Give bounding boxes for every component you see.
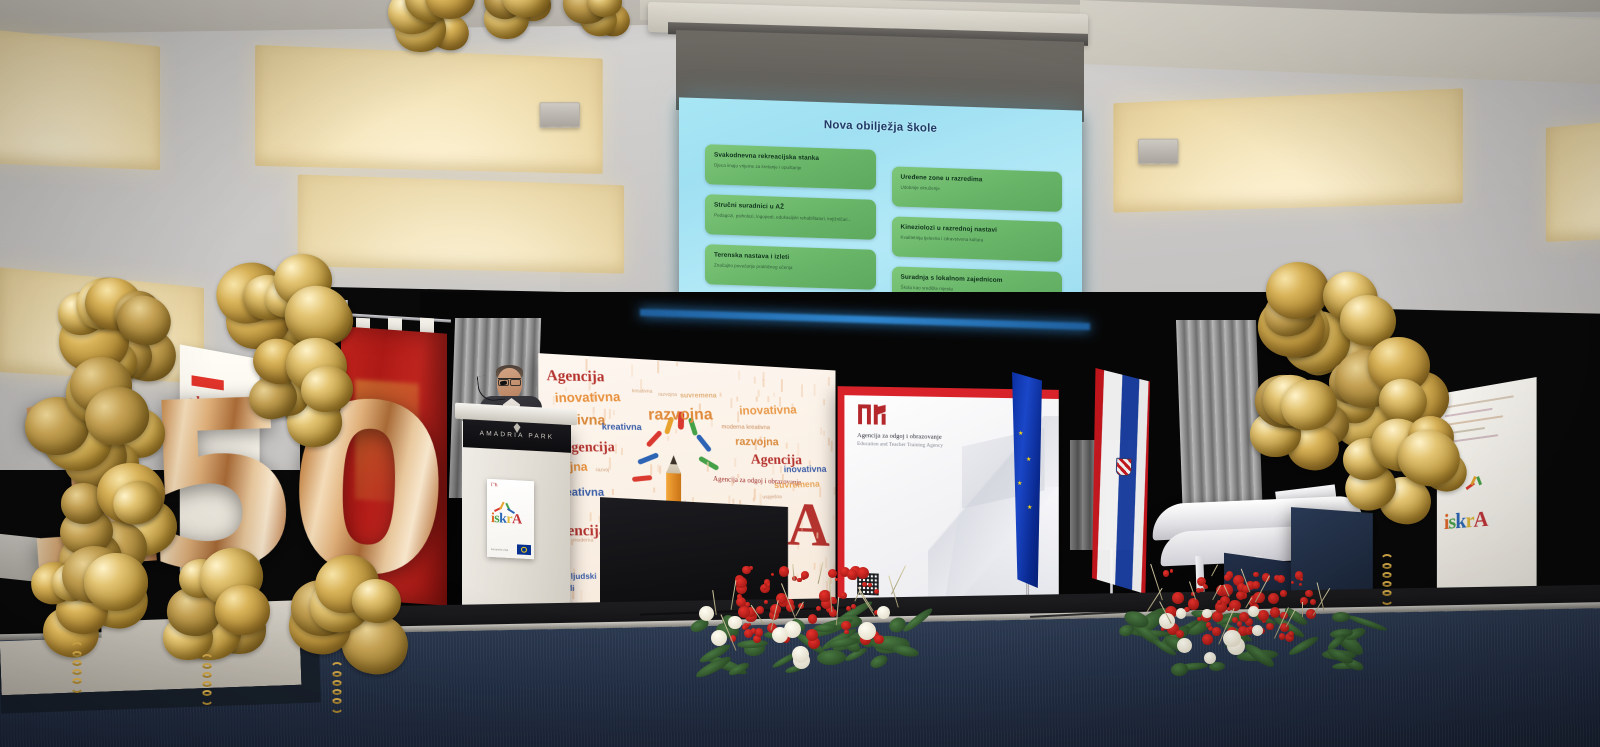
floral-red-bloom [767, 583, 771, 587]
banner-texture-tick [833, 515, 835, 520]
croatian-coat-of-arms [1116, 458, 1133, 477]
banner-texture-tick [653, 487, 655, 493]
poster-text-lines [1445, 395, 1514, 450]
balloon-curl-tail [330, 668, 344, 713]
floral-red-bloom [1212, 627, 1221, 636]
floral-greenery [817, 649, 847, 665]
floral-red-bloom [1196, 588, 1202, 594]
floral-red-bloom [1266, 623, 1274, 631]
banner-texture-tick [731, 481, 733, 486]
slide-card: Terenska nastava i izleti Značajno poveć… [705, 244, 876, 290]
floral-white-rose [1204, 652, 1216, 664]
banner-texture-tick [768, 396, 770, 402]
wordcloud-word: moderna kreativna [721, 424, 770, 431]
banner-texture-tick [667, 435, 669, 441]
floral-red-bloom [1277, 575, 1284, 582]
croatian-flag [1092, 368, 1150, 594]
banner-texture-tick [801, 520, 803, 531]
banner-texture-tick [823, 431, 825, 436]
banner-texture-tick [754, 489, 756, 499]
wall-light-niche [1546, 112, 1600, 242]
floral-arrangement [1118, 562, 1348, 666]
banner-texture-tick [814, 384, 816, 396]
floral-red-bloom [1224, 574, 1231, 581]
floral-red-bloom [779, 566, 790, 577]
wordcloud-word: suvremena [774, 480, 820, 490]
banner-texture-tick [823, 399, 825, 405]
floral-red-bloom [1163, 570, 1170, 577]
floral-red-bloom [1288, 636, 1292, 640]
banner-texture-tick [720, 392, 722, 397]
floral-arrangement [690, 560, 910, 666]
banner-texture-tick [608, 409, 610, 419]
floral-red-bloom [874, 589, 879, 594]
wall-light-niche [255, 45, 603, 174]
iskra-wordmark: iskrA [1444, 508, 1488, 533]
wordcloud-word: kreativna [632, 389, 653, 394]
slide-card: Stručni suradnici u AŽ Pedagozi, psiholo… [705, 194, 876, 240]
wordcloud-word: razvoj [596, 468, 610, 473]
banner-texture-tick [631, 365, 633, 377]
floral-red-bloom [735, 577, 746, 588]
lectern-poster: ГЋ iskrA Europska unija [487, 479, 534, 559]
big-letter-a: A [787, 494, 830, 557]
floral-red-bloom [1176, 630, 1184, 638]
banner-texture-tick [621, 448, 623, 456]
wordcloud-word: suvremena [680, 392, 717, 399]
floral-twig [818, 562, 824, 584]
banner-texture-tick [831, 440, 833, 452]
banner-texture-tick [757, 390, 759, 397]
floral-red-bloom [1291, 581, 1294, 584]
floral-red-bloom [835, 578, 838, 581]
floral-red-bloom [841, 621, 850, 630]
floral-red-bloom [771, 573, 774, 576]
floral-white-rose [699, 606, 714, 621]
floral-red-bloom [1202, 634, 1213, 645]
banner-texture-tick [651, 465, 653, 476]
azoo-name-hr: Agencija za odgoj i obrazovanje [857, 432, 942, 441]
banner-texture-tick [798, 545, 800, 550]
floral-red-bloom [742, 566, 750, 574]
balloon-curl-tail [200, 660, 214, 705]
floral-red-bloom [764, 600, 768, 604]
eu-flag-badge [517, 544, 531, 555]
banner-texture-tick [612, 410, 614, 416]
banner-texture-tick [734, 457, 736, 467]
floral-red-bloom [857, 567, 869, 579]
wordcloud-word: razvojna [735, 437, 779, 448]
floral-red-bloom [1170, 569, 1173, 572]
slide-card-subtext: Udobnije okruženje [901, 185, 1054, 197]
banner-texture-tick [612, 489, 614, 495]
floral-red-bloom [1229, 600, 1241, 612]
azoo-logo-icon [857, 402, 888, 426]
floral-red-bloom [816, 606, 822, 612]
slide-card-subtext: Pedagozi, psiholozi, logopedi, edukacijs… [714, 212, 867, 224]
floral-red-bloom [1270, 607, 1280, 617]
banner-texture-tick [763, 379, 765, 388]
banner-texture-tick [659, 465, 661, 473]
spark-ray [696, 434, 712, 453]
floral-red-bloom [1172, 592, 1184, 604]
floral-red-bloom [862, 582, 867, 587]
floral-red-bloom [1239, 612, 1249, 622]
wordcloud-word: razvojna [658, 393, 677, 398]
lectern-poster-logo: ГЋ [491, 483, 498, 488]
floral-red-bloom [1299, 583, 1302, 586]
slide-card: Kineziolozi u razrednoj nastavi Kvalitet… [892, 216, 1063, 262]
slide-card: Uređene zone u razredima Udobnije okruže… [892, 166, 1063, 212]
wordcloud-word: inovativna [739, 404, 797, 417]
floral-red-bloom [1279, 633, 1285, 639]
banner-texture-tick [739, 371, 741, 380]
wordcloud-word: kreativna [602, 422, 642, 432]
floral-white-rose [1176, 608, 1187, 619]
slide-card: Svakodnevna rekreacijska stanka Djeca im… [705, 144, 876, 190]
floral-white-rose [877, 606, 890, 619]
floral-white-rose [728, 616, 742, 630]
floral-white-rose [1248, 606, 1259, 617]
banner-texture-tick [590, 512, 592, 522]
lectern-poster-note: Europska unija [491, 548, 515, 553]
right-wall-poster: iskrA Europska unijaZajedno do fondova E… [1437, 377, 1537, 619]
slide-title: Nova obilježja škole [679, 114, 1082, 139]
wall-light-niche [0, 24, 160, 170]
iskra-wordmark: iskrA [491, 512, 521, 528]
banner-texture-tick [781, 379, 783, 392]
floral-red-bloom [748, 623, 751, 626]
banner-texture-tick [786, 442, 788, 448]
floral-twig [1211, 565, 1218, 577]
floral-red-bloom [1252, 581, 1260, 589]
slide-card-subtext: Kvalitetnija tjelesna i zdravstvena kult… [901, 235, 1054, 247]
banner-texture-tick [706, 462, 708, 472]
banner-texture-tick [834, 487, 836, 495]
balloon-curl-tail [70, 648, 84, 693]
floral-white-rose [711, 630, 727, 646]
floral-white-rose [1202, 609, 1211, 618]
wordcloud-word: razvojna [648, 407, 713, 423]
floral-white-rose [858, 622, 876, 640]
floral-white-rose [1223, 630, 1240, 647]
floral-red-bloom [868, 583, 872, 587]
floral-red-bloom [874, 635, 883, 644]
floral-red-bloom [755, 628, 763, 636]
banner-texture-tick [737, 396, 739, 402]
spark-ray [698, 456, 719, 471]
wall-light-niche [1113, 88, 1463, 212]
banner-texture-tick [753, 376, 755, 384]
slide-card-subtext: Djeca imaju vrijeme za kretanje i opušta… [714, 162, 867, 174]
spark-ray [637, 452, 659, 465]
floral-red-bloom [1280, 590, 1286, 596]
floral-red-bloom [762, 585, 767, 590]
wordcloud-word: uspješna [762, 495, 782, 500]
wall-speaker-icon [540, 102, 580, 128]
slide-left-column: Svakodnevna rekreacijska stanka Djeca im… [705, 144, 876, 304]
banner-texture-tick [580, 591, 582, 601]
floral-white-rose [772, 627, 788, 643]
banner-texture-tick [801, 385, 803, 398]
banner-texture-tick [730, 398, 732, 408]
banner-texture-tick [816, 532, 818, 538]
floral-red-bloom [751, 628, 757, 634]
floral-red-bloom [738, 606, 750, 618]
presentation-slide: Nova obilježja škole Svakodnevna rekreac… [679, 97, 1082, 320]
floral-red-bloom [840, 592, 847, 599]
azoo-name-en: Education and Teacher Training Agency [857, 441, 943, 449]
floral-white-rose [1177, 638, 1192, 653]
wall-speaker-icon [1138, 139, 1178, 165]
wordcloud-word: moderna [573, 538, 593, 543]
banner-texture-tick [827, 438, 829, 446]
floral-red-bloom [851, 604, 856, 609]
wordcloud-word: inovativna [784, 465, 827, 474]
floral-twig [1302, 602, 1303, 617]
wordcloud-word: Agencija [546, 369, 604, 385]
wall-light-niche [298, 174, 624, 273]
banner-texture-tick [756, 397, 758, 402]
spark-ray [632, 475, 653, 482]
banner-texture-tick [676, 362, 678, 367]
slide-right-column: Uređene zone u razredima Udobnije okruže… [892, 150, 1063, 310]
conference-stage-photo: Nova obilježja škole Svakodnevna rekreac… [0, 0, 1600, 747]
floral-red-bloom [1305, 590, 1312, 597]
banner-texture-tick [615, 444, 617, 454]
banner-texture-tick [773, 392, 775, 396]
banner-texture-tick [657, 361, 659, 374]
floral-red-bloom [1300, 578, 1303, 581]
floral-greenery [1332, 612, 1350, 623]
floral-red-bloom [808, 614, 818, 624]
floral-white-rose [1252, 625, 1263, 636]
balloon-curl-tail [1380, 560, 1394, 605]
floral-red-bloom [1310, 599, 1316, 605]
slide-card-subtext: Značajno povećanje praktičnog učenja [714, 262, 867, 274]
wordcloud-word: inovativna [554, 390, 620, 404]
floral-red-bloom [828, 569, 838, 579]
floral-red-bloom [1268, 593, 1279, 604]
floral-red-bloom [801, 571, 809, 579]
banner-texture-tick [828, 377, 830, 385]
banner-texture-tick [820, 428, 822, 435]
floral-red-bloom [1253, 572, 1259, 578]
poster-spark-icon [1464, 474, 1484, 492]
gold-balloon [83, 553, 148, 611]
banner-texture-tick [737, 474, 739, 478]
banner-texture-tick [675, 429, 677, 433]
floral-red-bloom [806, 629, 818, 641]
floral-red-bloom [846, 606, 851, 611]
